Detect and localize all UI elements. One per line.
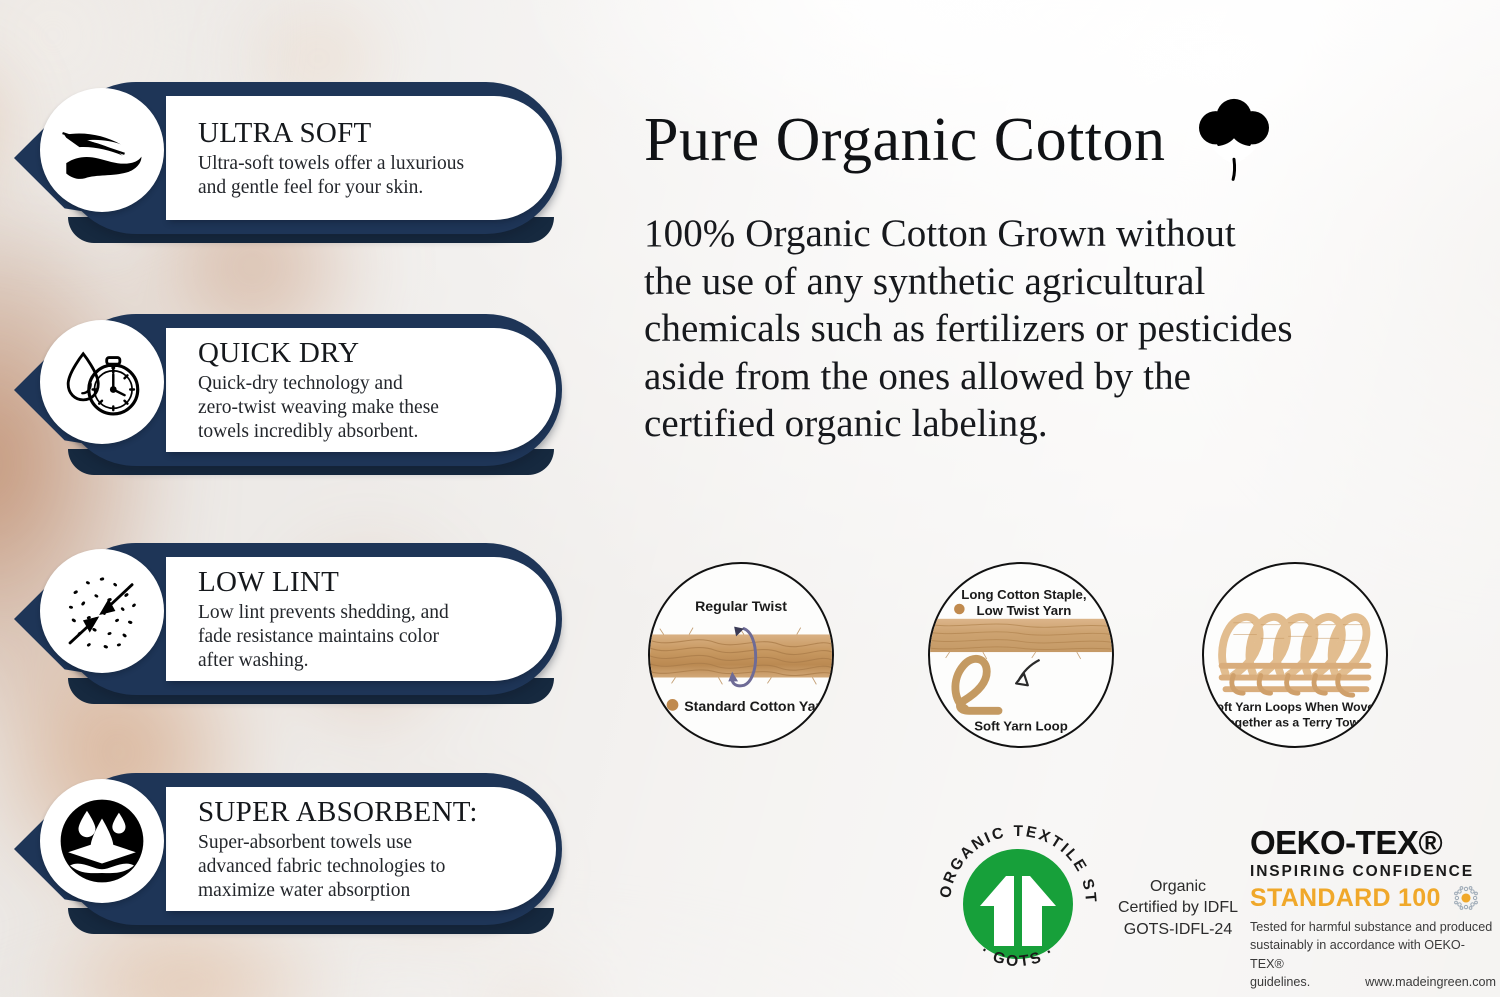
yarn-bottom-label: Soft Yarn Loops When Woven [1208,700,1381,714]
feature-card-low-lint[interactable]: LOW LINT Low lint prevents shedding, and… [14,535,570,703]
yarn-bottom-label-line2: Together as a Terry Towel [1221,715,1370,729]
gots-certification-info: Organic Certified by IDFL GOTS-IDFL-24 [1114,876,1242,940]
yarn-bottom-label: Soft Yarn Loop [974,718,1068,733]
feature-card-list: ULTRA SOFT Ultra-soft towels offer a lux… [0,0,600,997]
page-title: Pure Organic Cotton [644,109,1166,171]
feature-description: Low lint prevents shedding, and fade res… [198,601,518,674]
oeko-sun-icon [1453,885,1479,911]
feature-description: Ultra-soft towels offer a luxurious and … [198,152,518,200]
card-text-panel: LOW LINT Low lint prevents shedding, and… [166,557,556,681]
yarn-top-label: Regular Twist [695,599,787,615]
low-twist-yarn-diagram: Long Cotton Staple, Low Twist Yarn Soft … [928,562,1114,748]
card-text-panel: ULTRA SOFT Ultra-soft towels offer a lux… [166,96,556,220]
oeko-standard-row: STANDARD 100 [1250,885,1500,911]
certification-row: GLOBAL ORGANIC TEXTILE STANDARD · GOTS ·… [630,812,1500,992]
oeko-tagline: INSPIRING CONFIDENCE [1250,863,1500,881]
hero-paragraph: 100% Organic Cotton Grown without the us… [644,210,1484,448]
feature-card-ultra-soft[interactable]: ULTRA SOFT Ultra-soft towels offer a lux… [14,74,570,242]
hero-headline-row: Pure Organic Cotton [644,98,1278,182]
oeko-brand: OEKO-TEX® [1250,826,1500,859]
feature-title: LOW LINT [198,567,518,598]
feather-in-hand-icon [40,88,164,212]
card-text-panel: SUPER ABSORBENT: Super-absorbent towels … [166,787,556,911]
oeko-fine-print: Tested for harmful substance and produce… [1250,918,1496,991]
right-content-column: Pure Organic Cotton 100% Organic Cotton … [630,0,1500,997]
yarn-bottom-label: Standard Cotton Yarn [684,699,829,715]
card-text-panel: QUICK DRY Quick-dry technology and zero-… [166,328,556,452]
oeko-guidelines-text: guidelines. [1250,973,1310,991]
terry-loops-diagram: Soft Yarn Loops When Woven Together as a… [1202,562,1388,748]
feature-title: ULTRA SOFT [198,118,518,149]
lint-particles-arrows-icon [40,549,164,673]
feature-description: Super-absorbent towels use advanced fabr… [198,831,518,904]
feature-card-super-absorbent[interactable]: SUPER ABSORBENT: Super-absorbent towels … [14,765,570,933]
absorbent-droplet-fabric-icon [40,779,164,903]
oeko-standard-label: STANDARD 100 [1250,886,1441,911]
oeko-tex-badge: OEKO-TEX® INSPIRING CONFIDENCE STANDARD … [1250,826,1500,991]
feature-title: QUICK DRY [198,338,518,369]
yarn-top-label-line2: Low Twist Yarn [977,603,1072,618]
oeko-website-link[interactable]: www.madeingreen.com [1365,973,1496,991]
feature-card-quick-dry[interactable]: QUICK DRY Quick-dry technology and zero-… [14,306,570,474]
yarn-bullet-dot [667,699,679,711]
yarn-diagram-group: Regular Twist Standard Cotton Yarn [630,562,1500,762]
feature-title: SUPER ABSORBENT: [198,797,518,828]
water-drop-stopwatch-icon [40,320,164,444]
cotton-boll-icon [1190,98,1278,182]
feature-description: Quick-dry technology and zero-twist weav… [198,372,518,445]
yarn-top-label: Long Cotton Staple, [961,587,1086,602]
gots-logo: GLOBAL ORGANIC TEXTILE STANDARD · GOTS · [928,814,1108,994]
regular-twist-diagram: Regular Twist Standard Cotton Yarn [648,562,834,748]
yarn-bullet-dot [954,604,965,615]
